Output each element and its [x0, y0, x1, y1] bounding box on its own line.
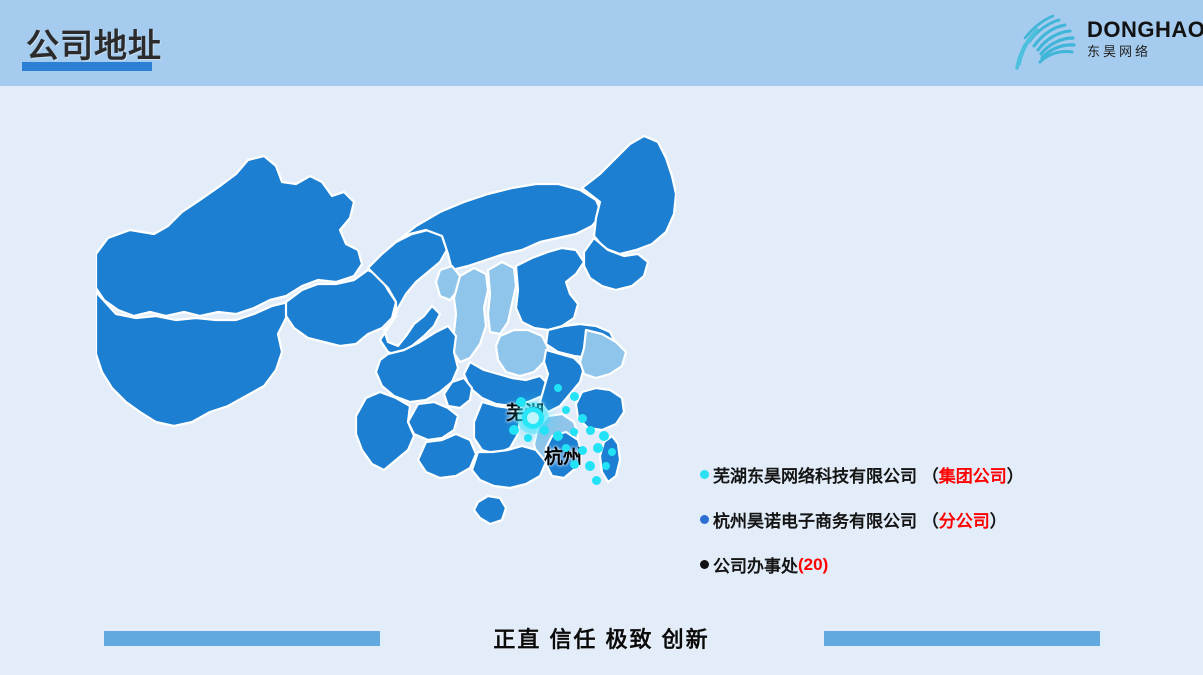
- legend-item-label: 公司办事处: [713, 552, 798, 577]
- map-marker-office[interactable]: [553, 431, 563, 441]
- map-marker-office[interactable]: [578, 446, 587, 455]
- title-underline-bar: [22, 62, 152, 71]
- province-taiwan: [600, 436, 620, 482]
- legend-paren-open: （: [917, 507, 939, 532]
- map-marker-office[interactable]: [578, 414, 587, 423]
- page-title: 公司地址: [26, 19, 162, 67]
- logo-subtitle: 东昊网络: [1087, 43, 1187, 60]
- map-marker-office[interactable]: [524, 434, 532, 442]
- map-marker-office[interactable]: [570, 460, 579, 469]
- legend-bullet-icon: [700, 470, 709, 479]
- map-marker-office[interactable]: [540, 426, 549, 435]
- map-marker-headquarters[interactable]: [522, 407, 544, 429]
- legend-item-accent: 分公司: [939, 507, 990, 532]
- logo-name: DONGHAO: [1087, 18, 1187, 42]
- province-northeast: [582, 136, 676, 254]
- china-map-svg: [96, 130, 676, 610]
- map-marker-office[interactable]: [562, 444, 570, 452]
- province-shaanxi: [452, 268, 488, 362]
- wing-feather-logo-icon: [1013, 10, 1087, 72]
- province-guizhou: [408, 402, 458, 440]
- china-map-container[interactable]: 芜湖 杭州: [96, 130, 676, 610]
- legend-item-accent: (20): [798, 555, 828, 575]
- map-marker-office[interactable]: [554, 384, 562, 392]
- map-marker-office[interactable]: [585, 461, 595, 471]
- map-marker-office[interactable]: [516, 397, 526, 407]
- province-hainan: [474, 496, 506, 524]
- map-marker-office[interactable]: [599, 431, 609, 441]
- province-shanxi: [488, 262, 516, 334]
- map-marker-office[interactable]: [562, 406, 570, 414]
- province-zhejiang: [576, 388, 624, 430]
- province-yunnan: [356, 392, 414, 470]
- map-marker-office[interactable]: [586, 426, 595, 435]
- legend-bullet-icon: [700, 560, 709, 569]
- map-marker-office[interactable]: [608, 448, 616, 456]
- legend-paren-open: （: [917, 462, 939, 487]
- legend-item-label: 杭州昊诺电子商务有限公司: [713, 507, 917, 532]
- province-hebei: [516, 248, 584, 330]
- logo-text-block: DONGHAO 东昊网络: [1087, 18, 1187, 60]
- legend-item-0[interactable]: 芜湖东昊网络科技有限公司 （集团公司）: [700, 462, 1120, 487]
- map-marker-office[interactable]: [592, 476, 601, 485]
- page-header: 公司地址 DONGHAO 东昊网络: [0, 0, 1203, 86]
- legend-item-2[interactable]: 公司办事处(20): [700, 552, 1120, 577]
- legend-bullet-icon: [700, 515, 709, 524]
- legend: 芜湖东昊网络科技有限公司 （集团公司）杭州昊诺电子商务有限公司 （分公司）公司办…: [700, 462, 1120, 597]
- map-marker-office[interactable]: [570, 428, 578, 436]
- map-marker-office[interactable]: [593, 443, 603, 453]
- legend-item-label: 芜湖东昊网络科技有限公司: [713, 462, 917, 487]
- legend-item-accent: 集团公司: [939, 462, 1007, 487]
- province-jiangsu: [580, 330, 626, 378]
- legend-paren-close: ）: [1007, 462, 1024, 487]
- footer-motto: 正直 信任 极致 创新: [0, 622, 1203, 654]
- legend-item-1[interactable]: 杭州昊诺电子商务有限公司 （分公司）: [700, 507, 1120, 532]
- company-logo: DONGHAO 东昊网络: [1013, 10, 1185, 72]
- map-marker-office[interactable]: [602, 462, 610, 470]
- map-marker-office[interactable]: [509, 425, 519, 435]
- province-guangdong: [472, 446, 546, 488]
- province-henan: [496, 330, 548, 376]
- map-marker-office[interactable]: [570, 392, 579, 401]
- legend-paren-close: ）: [990, 507, 1007, 532]
